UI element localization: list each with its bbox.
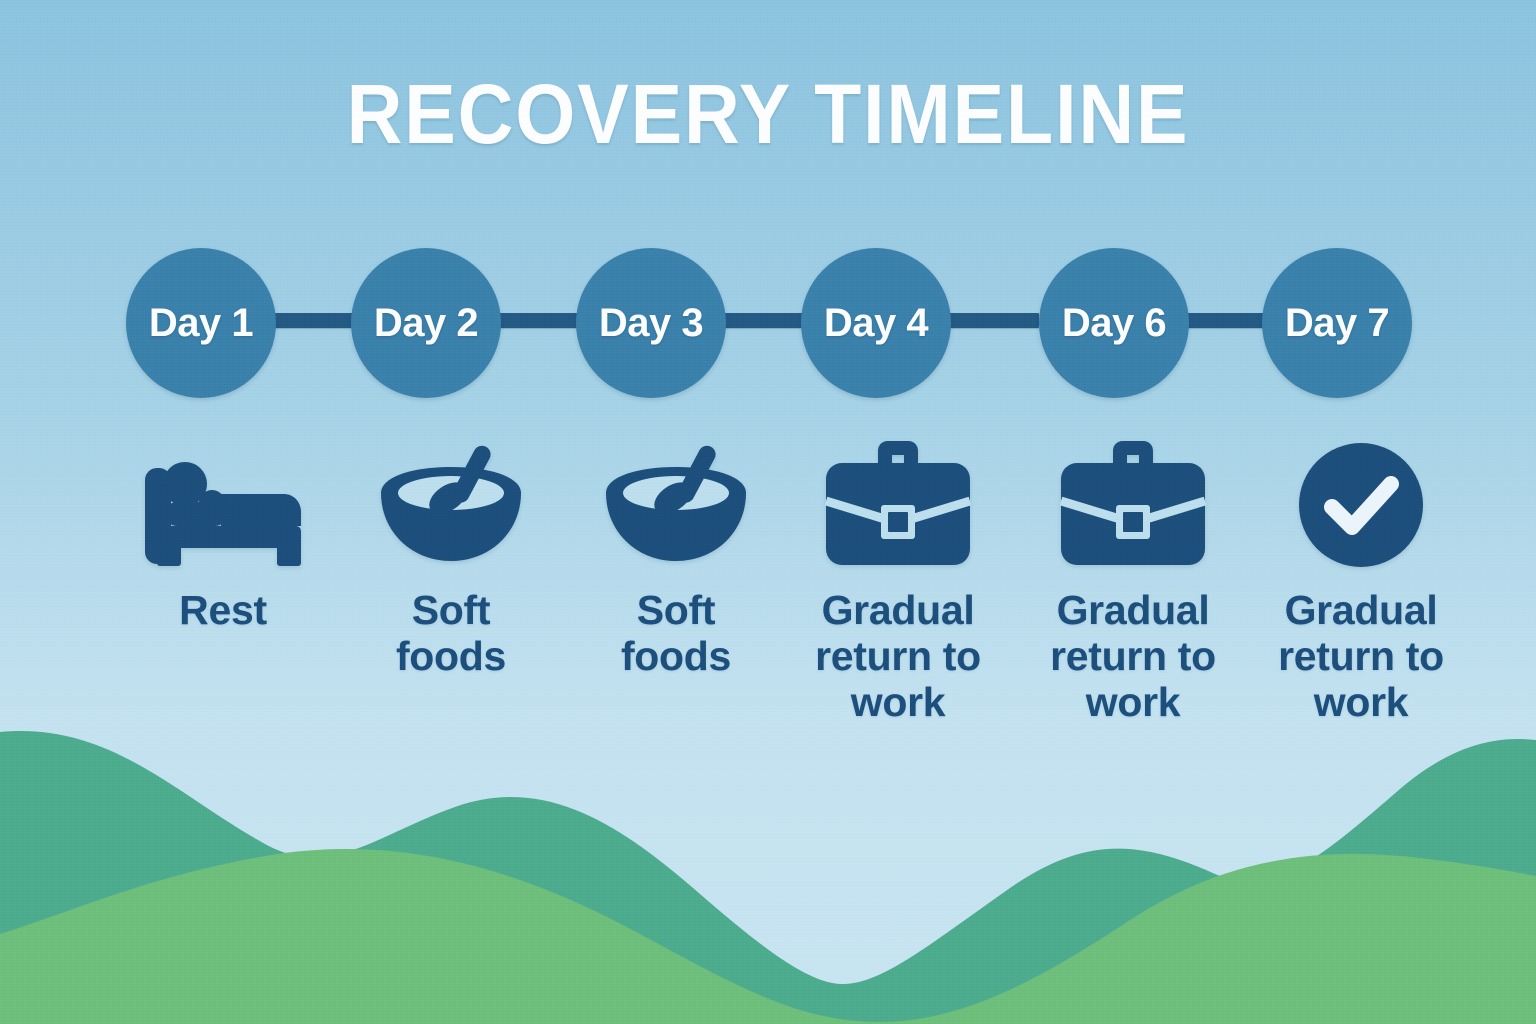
step-return-to-work-3: Gradual return to work (1254, 440, 1468, 726)
steps-row: Rest (126, 440, 1416, 770)
step-return-to-work-1: Gradual return to work (791, 440, 1005, 726)
step-soft-foods-2: Soft foods (569, 440, 783, 680)
step-soft-foods-1: Soft foods (344, 440, 558, 680)
timeline-connector (724, 313, 804, 328)
timeline-node-label: Day 6 (1062, 301, 1166, 346)
timeline-node-label: Day 7 (1285, 301, 1389, 346)
timeline-connector (499, 313, 579, 328)
page-title: RECOVERY TIMELINE (61, 72, 1474, 156)
step-rest: Rest (116, 440, 330, 634)
timeline-node-label: Day 4 (824, 301, 928, 346)
timeline-node-day-3[interactable]: Day 3 (576, 248, 726, 398)
timeline-node-day-2[interactable]: Day 2 (351, 248, 501, 398)
check-circle-icon (1254, 440, 1468, 570)
timeline-connector (274, 313, 354, 328)
bed-rest-icon (116, 440, 330, 570)
timeline-node-label: Day 3 (599, 301, 703, 346)
timeline-node-label: Day 1 (149, 301, 253, 346)
briefcase-icon (1026, 440, 1240, 570)
step-caption: Gradual return to work (791, 588, 1005, 726)
timeline-node-day-7[interactable]: Day 7 (1262, 248, 1412, 398)
bowl-spoon-icon (569, 440, 783, 570)
step-caption: Soft foods (344, 588, 558, 680)
timeline-connector (1184, 313, 1274, 328)
timeline-node-day-6[interactable]: Day 6 (1039, 248, 1189, 398)
timeline-node-label: Day 2 (374, 301, 478, 346)
step-caption: Gradual return to work (1254, 588, 1468, 726)
step-caption: Rest (116, 588, 330, 634)
step-return-to-work-2: Gradual return to work (1026, 440, 1240, 726)
bowl-spoon-icon (344, 440, 558, 570)
step-caption: Soft foods (569, 588, 783, 680)
timeline-connector (949, 313, 1039, 328)
timeline-node-day-4[interactable]: Day 4 (801, 248, 951, 398)
recovery-timeline-poster: RECOVERY TIMELINE Day 1 Day 2 Day 3 Day … (0, 0, 1536, 1024)
step-caption: Gradual return to work (1026, 588, 1240, 726)
briefcase-icon (791, 440, 1005, 570)
timeline-node-day-1[interactable]: Day 1 (126, 248, 276, 398)
timeline-track: Day 1 Day 2 Day 3 Day 4 Day 6 Day 7 (126, 248, 1412, 398)
